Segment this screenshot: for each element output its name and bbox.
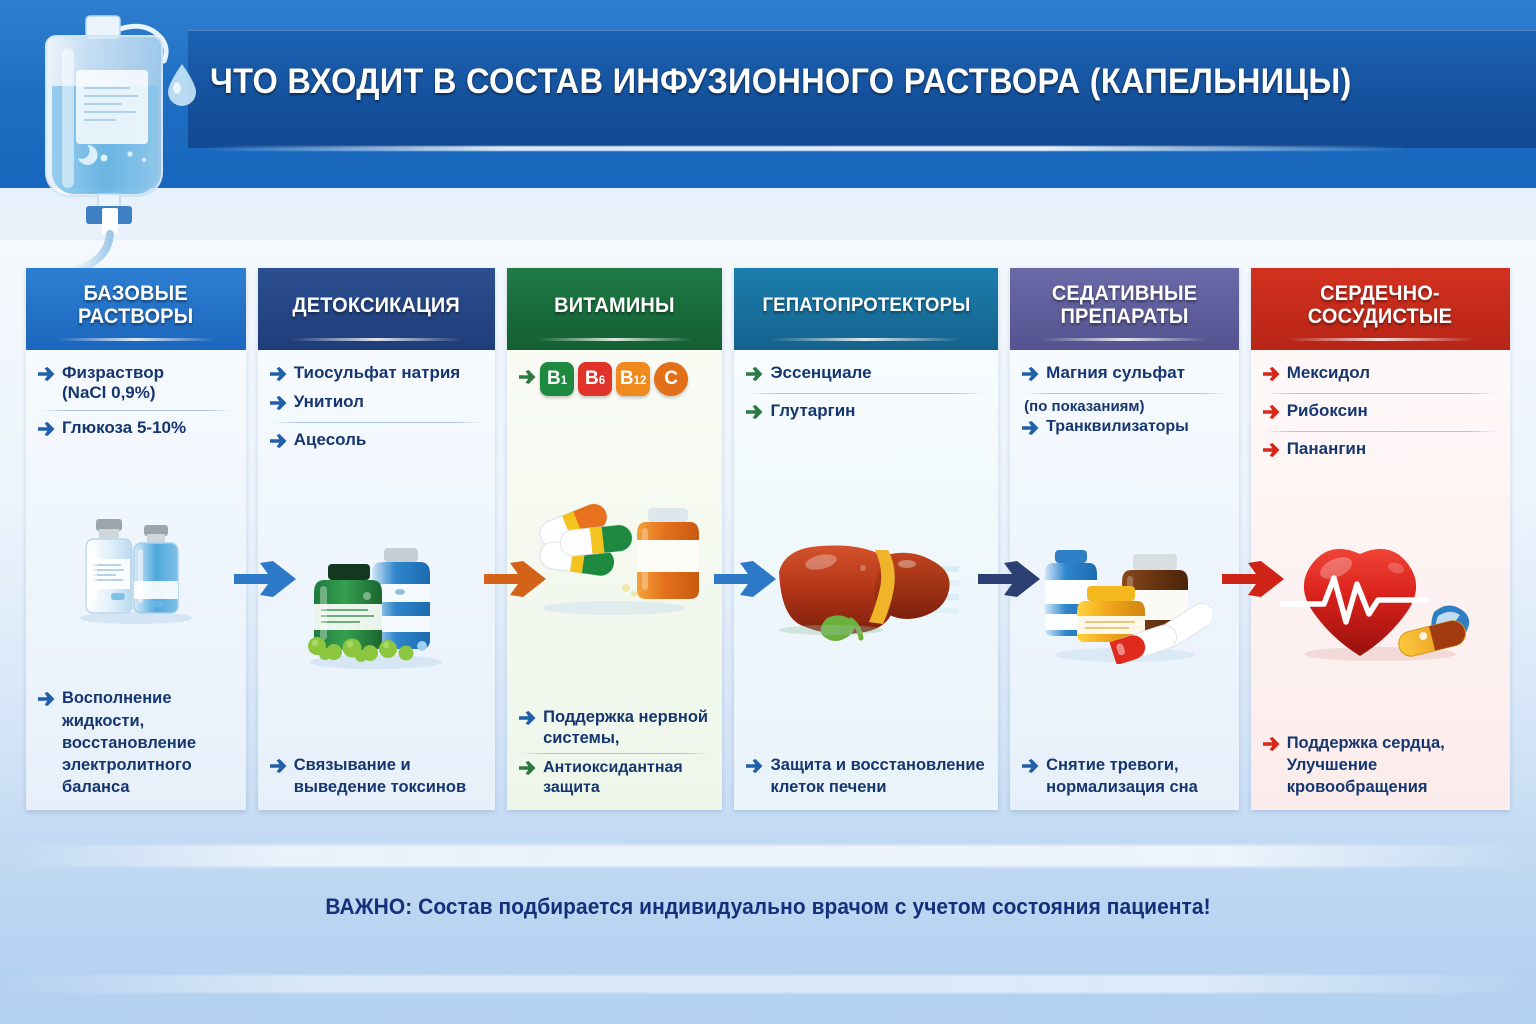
- vitamin-badge-b12: B12: [616, 362, 650, 396]
- connector-arrow-5: [1222, 561, 1284, 602]
- benefit-row: Поддержка сердца, Улучшение кровообращен…: [1263, 732, 1498, 798]
- column-gepatoprotektory: ГЕПАТОПРОТЕКТОРЫ Эссенциале: [734, 268, 998, 810]
- item-text: Магния сульфат: [1046, 363, 1227, 383]
- column-header-vitaminy: ВИТАМИНЫ: [507, 268, 722, 350]
- category-columns: БАЗОВЫЕ РАСТВОРЫ Физраствор (NaCl 0,9%): [26, 268, 1510, 810]
- benefit-text: Защита и восстановление клеток печени: [770, 754, 986, 798]
- green-and-blue-bottles-icon: [270, 456, 483, 754]
- item-text: Эссенциале: [770, 363, 986, 383]
- badge-label: B: [620, 362, 634, 396]
- arrow-bullet-icon: [1263, 442, 1280, 462]
- vitamin-badge-b1: B1: [540, 362, 574, 396]
- arrow-bullet-icon: [270, 395, 287, 415]
- arrow-bullet-icon: [519, 761, 536, 781]
- medicine-bottles-and-capsule-icon: [1022, 444, 1227, 754]
- list-item: Транквилизаторы: [1022, 415, 1227, 444]
- vitamin-badge-row: B1 B6 B12 C: [519, 360, 710, 396]
- header-underline: [200, 146, 1410, 151]
- item-text-line1: Физраствор: [62, 363, 164, 382]
- item-divider: [1265, 393, 1496, 394]
- arrow-bullet-icon: [1263, 366, 1280, 386]
- item-text: Унитиол: [294, 392, 483, 412]
- arrow-bullet-icon: [38, 366, 55, 386]
- benefit-divider: [521, 753, 708, 754]
- background-sheen-lower: [0, 975, 1536, 993]
- column-title: ГЕПАТОПРОТЕКТОРЫ: [762, 295, 970, 316]
- benefit-text: Поддержка сердца, Улучшение кровообращен…: [1287, 732, 1498, 798]
- badge-sub: 1: [561, 364, 567, 398]
- benefit-text: Восполнение жидкости, восстановление эле…: [62, 687, 234, 798]
- arrow-bullet-icon: [1022, 421, 1039, 441]
- vitamin-badge-b6: B6: [578, 362, 612, 396]
- column-title-line1: БАЗОВЫЕ: [84, 282, 188, 305]
- arrow-bullet-icon: [38, 690, 55, 712]
- column-title-line1: СЕДАТИВНЫЕ: [1052, 282, 1197, 305]
- arrow-bullet-icon: [519, 710, 536, 731]
- badge-sub: 6: [599, 364, 605, 398]
- liver-icon: [746, 427, 986, 754]
- connector-arrow-2: [484, 561, 546, 602]
- item-list: Мексидол Рибоксин Панангин: [1263, 360, 1498, 465]
- column-title-line2: РАСТВОРЫ: [78, 305, 193, 328]
- item-text: Панангин: [1287, 439, 1498, 459]
- page-title: ЧТО ВХОДИТ В СОСТАВ ИНФУЗИОННОГО РАСТВОР…: [210, 62, 1419, 102]
- column-header-gepatoprotektory: ГЕПАТОПРОТЕКТОРЫ: [734, 268, 998, 350]
- item-divider: [272, 422, 481, 423]
- list-item: Панангин: [1263, 436, 1498, 465]
- arrow-bullet-icon: [746, 757, 763, 779]
- column-header-serdechno-sosudistye: СЕРДЕЧНО- СОСУДИСТЫЕ: [1251, 268, 1510, 350]
- column-header-sedativnye-preparaty: СЕДАТИВНЫЕ ПРЕПАРАТЫ: [1010, 268, 1239, 350]
- item-text: Тиосульфат натрия: [294, 363, 483, 383]
- item-divider: [40, 410, 232, 411]
- item-text: Глутаргин: [770, 401, 986, 421]
- arrow-bullet-icon: [270, 433, 287, 453]
- list-item: Глутаргин: [746, 398, 986, 427]
- column-serdechno-sosudistye: СЕРДЕЧНО- СОСУДИСТЫЕ Мексидол: [1251, 268, 1510, 810]
- important-note: ВАЖНО: Состав подбирается индивидуально …: [38, 894, 1497, 920]
- column-title-line2: СОСУДИСТЫЕ: [1308, 305, 1452, 328]
- item-text: Глюкоза 5-10%: [62, 418, 234, 438]
- column-title: ДЕТОКСИКАЦИЯ: [293, 295, 461, 318]
- column-title: ВИТАМИНЫ: [554, 295, 675, 318]
- two-glass-vials-icon: [38, 444, 234, 687]
- item-text: Ацесоль: [294, 430, 483, 450]
- connector-arrow-1: [234, 561, 296, 602]
- arrow-bullet-icon: [270, 757, 287, 779]
- list-item: Физраствор (NaCl 0,9%): [38, 360, 234, 406]
- column-title-line1: СЕРДЕЧНО-: [1321, 282, 1441, 305]
- column-bazovye-rastvory: БАЗОВЫЕ РАСТВОРЫ Физраствор (NaCl 0,9%): [26, 268, 246, 810]
- list-item: Мексидол: [1263, 360, 1498, 389]
- benefit-row: Связывание и выведение токсинов: [270, 754, 483, 798]
- column-detoksikaciya: ДЕТОКСИКАЦИЯ Тиосульфат натрия Унитиол: [258, 268, 495, 810]
- column-body-serdechno-sosudistye: Мексидол Рибоксин Панангин: [1251, 350, 1510, 810]
- heart-with-pulse-icon: [1263, 465, 1498, 732]
- item-text: Транквилизаторы: [1046, 418, 1227, 437]
- list-item: Эссенциале: [746, 360, 986, 389]
- list-item: Унитиол: [270, 389, 483, 418]
- arrow-bullet-icon: [1022, 757, 1039, 779]
- list-item: Глюкоза 5-10%: [38, 415, 234, 444]
- iv-drip-bag-icon: [18, 8, 228, 278]
- item-list: Физраствор (NaCl 0,9%) Глюкоза 5-10%: [38, 360, 234, 444]
- arrow-bullet-icon: [270, 366, 287, 386]
- item-text: Рибоксин: [1287, 401, 1498, 421]
- background-sheen-upper: [0, 845, 1536, 867]
- item-list: Эссенциале Глутаргин: [746, 360, 986, 427]
- benefit-row: Восполнение жидкости, восстановление эле…: [38, 687, 234, 798]
- column-vitaminy: ВИТАМИНЫ B1 B6 B12: [507, 268, 722, 810]
- item-text: Мексидол: [1287, 363, 1498, 383]
- list-item: Ацесоль: [270, 427, 483, 456]
- benefit-row: Защита и восстановление клеток печени: [746, 754, 986, 798]
- column-title-line2: ПРЕПАРАТЫ: [1060, 305, 1188, 328]
- condition-note: (по показаниям): [1022, 398, 1227, 415]
- arrow-bullet-icon: [1263, 735, 1280, 757]
- infographic-poster: ЧТО ВХОДИТ В СОСТАВ ИНФУЗИОННОГО РАСТВОР…: [0, 0, 1536, 1024]
- column-body-bazovye-rastvory: Физраствор (NaCl 0,9%) Глюкоза 5-10%: [26, 350, 246, 810]
- capsules-and-pill-bottle-icon: [519, 396, 710, 707]
- benefit-text: Антиоксидантная защита: [543, 758, 710, 798]
- connector-arrow-3: [714, 561, 776, 602]
- arrow-bullet-icon: [1022, 366, 1039, 386]
- arrow-bullet-icon: [519, 370, 536, 389]
- list-item: Тиосульфат натрия: [270, 360, 483, 389]
- list-item: Рибоксин: [1263, 398, 1498, 427]
- badge-sub: 12: [634, 364, 647, 398]
- item-list: Тиосульфат натрия Унитиол Ацесоль: [270, 360, 483, 456]
- item-divider: [1265, 431, 1496, 432]
- item-divider: [1024, 393, 1225, 394]
- item-text-line2: (NaCl 0,9%): [62, 383, 156, 402]
- vitamin-badge-c: C: [654, 362, 688, 396]
- column-sedativnye-preparaty: СЕДАТИВНЫЕ ПРЕПАРАТЫ Магния сульфат (по …: [1010, 268, 1239, 810]
- arrow-bullet-icon: [1263, 404, 1280, 424]
- column-header-bazovye-rastvory: БАЗОВЫЕ РАСТВОРЫ: [26, 268, 246, 350]
- list-item: Магния сульфат: [1022, 360, 1227, 389]
- benefit-text: Снятие тревоги, нормализация сна: [1046, 754, 1227, 798]
- benefit-text: Поддержка нервной системы,: [543, 707, 710, 749]
- benefit-text: Связывание и выведение токсинов: [294, 754, 483, 798]
- badge-label: B: [547, 362, 561, 396]
- item-divider: [748, 393, 984, 394]
- column-header-detoksikaciya: ДЕТОКСИКАЦИЯ: [258, 268, 495, 350]
- benefit-row: Поддержка нервной системы,: [519, 707, 710, 749]
- connector-arrow-4: [978, 561, 1040, 602]
- badge-label: B: [585, 362, 599, 396]
- benefit-row: Антиоксидантная защита: [519, 758, 710, 798]
- item-list: Магния сульфат (по показаниям) Транквили…: [1022, 360, 1227, 444]
- arrow-bullet-icon: [746, 366, 763, 386]
- arrow-bullet-icon: [38, 421, 55, 441]
- column-body-sedativnye-preparaty: Магния сульфат (по показаниям) Транквили…: [1010, 350, 1239, 810]
- badge-label: C: [664, 362, 678, 396]
- arrow-bullet-icon: [746, 404, 763, 424]
- benefit-row: Снятие тревоги, нормализация сна: [1022, 754, 1227, 798]
